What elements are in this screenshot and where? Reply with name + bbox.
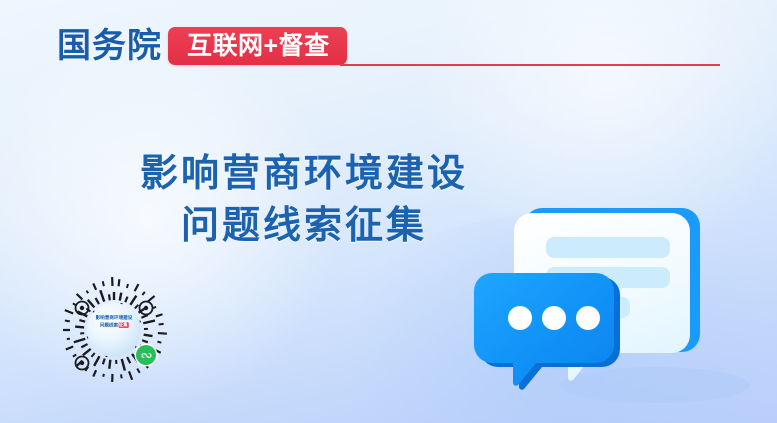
mini-program-icon	[140, 349, 153, 362]
wechat-mini-program-badge[interactable]	[136, 345, 156, 365]
qr-caption-line-2: 问题线索征集	[89, 322, 139, 329]
qr-code-icon	[58, 277, 170, 387]
qr-center-caption: 影响营商环境建设 问题线索征集	[87, 315, 141, 329]
typing-dots	[508, 306, 600, 330]
internet-plus-supervision-badge: 互联网+督查	[168, 27, 347, 65]
poster-banner: 国务院 互联网+督查 影响营商环境建设 问题线索征集	[0, 0, 777, 423]
header: 国务院 互联网+督查	[0, 0, 777, 80]
front-bubble-body	[474, 273, 614, 386]
badge-label: 互联网+督查	[187, 31, 330, 61]
qr-caption-line-2-text: 问题线索	[100, 323, 118, 329]
chat-bubbles-illustration	[470, 185, 777, 423]
wechat-mini-program-qr-code[interactable]: 影响营商环境建设 问题线索征集	[58, 277, 170, 387]
header-divider-line	[340, 64, 720, 66]
title-line-2: 问题线索征集	[104, 200, 504, 252]
title-line-1: 影响营商环境建设	[104, 148, 504, 200]
qr-caption-tag: 征集	[118, 322, 128, 328]
gov-name-label: 国务院	[57, 26, 162, 66]
chat-bubbles-icon	[470, 185, 777, 423]
page-title: 影响营商环境建设 问题线索征集	[104, 148, 504, 252]
qr-caption-line-1: 影响营商环境建设	[89, 315, 139, 321]
